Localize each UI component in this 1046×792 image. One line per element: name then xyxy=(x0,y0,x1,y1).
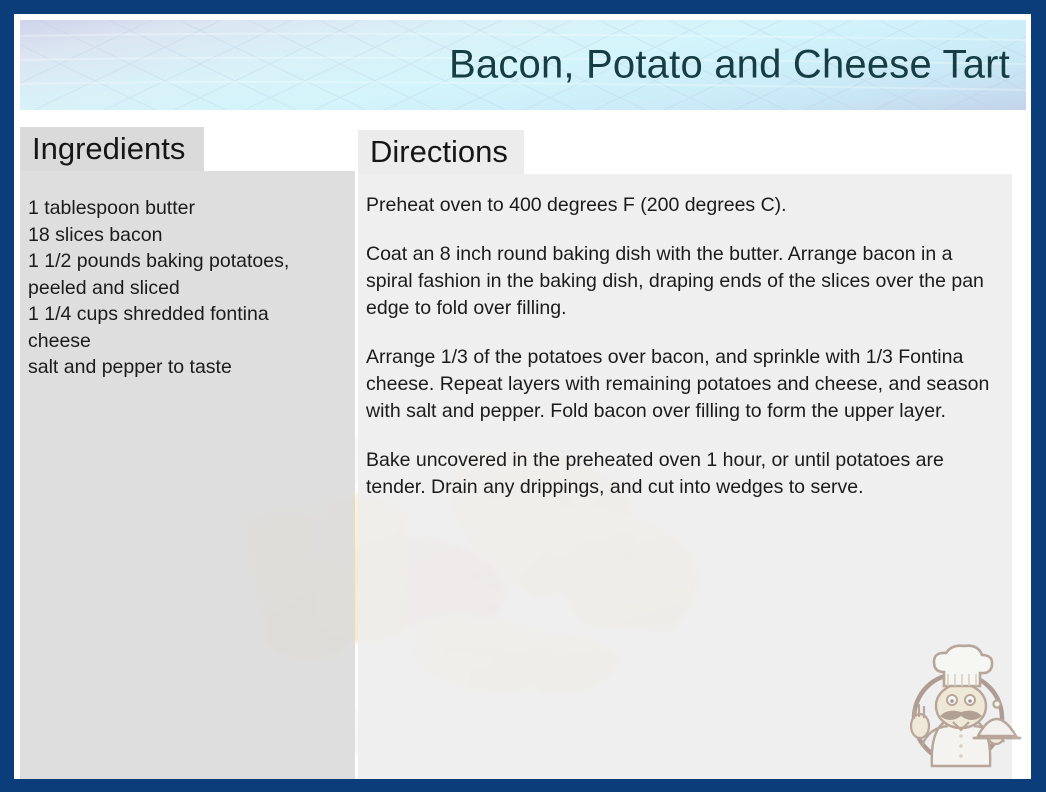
list-item: 1 1/2 pounds baking potatoes, xyxy=(28,248,339,275)
title-banner: Bacon, Potato and Cheese Tart xyxy=(20,20,1026,110)
list-item: peeled and sliced xyxy=(28,275,339,302)
ingredients-heading-label: Ingredients xyxy=(32,131,185,167)
directions-heading-label: Directions xyxy=(370,134,508,170)
list-item: 1 tablespoon butter xyxy=(28,195,339,222)
slide-border-bottom xyxy=(0,779,1046,792)
slide-border-left xyxy=(0,0,14,792)
recipe-slide: Bacon, Potato and Cheese Tart Ingredient… xyxy=(0,0,1046,792)
ingredients-list: 1 tablespoon butter 18 slices bacon 1 1/… xyxy=(28,195,339,381)
recipe-title: Bacon, Potato and Cheese Tart xyxy=(449,43,1010,88)
list-item: salt and pepper to taste xyxy=(28,354,339,381)
directions-panel: Preheat oven to 400 degrees F (200 degre… xyxy=(358,174,1012,779)
list-item: cheese xyxy=(28,328,339,355)
direction-step: Coat an 8 inch round baking dish with th… xyxy=(366,241,998,322)
slide-border-right xyxy=(1031,0,1046,792)
ingredients-heading-tab: Ingredients xyxy=(20,127,204,171)
slide-border-top xyxy=(0,0,1046,14)
ingredients-panel: 1 tablespoon butter 18 slices bacon 1 1/… xyxy=(20,171,355,779)
directions-heading-tab: Directions xyxy=(358,130,524,174)
direction-step: Preheat oven to 400 degrees F (200 degre… xyxy=(366,192,998,219)
direction-step: Bake uncovered in the preheated oven 1 h… xyxy=(366,447,998,501)
list-item: 18 slices bacon xyxy=(28,222,339,249)
direction-step: Arrange 1/3 of the potatoes over bacon, … xyxy=(366,344,998,425)
list-item: 1 1/4 cups shredded fontina xyxy=(28,301,339,328)
